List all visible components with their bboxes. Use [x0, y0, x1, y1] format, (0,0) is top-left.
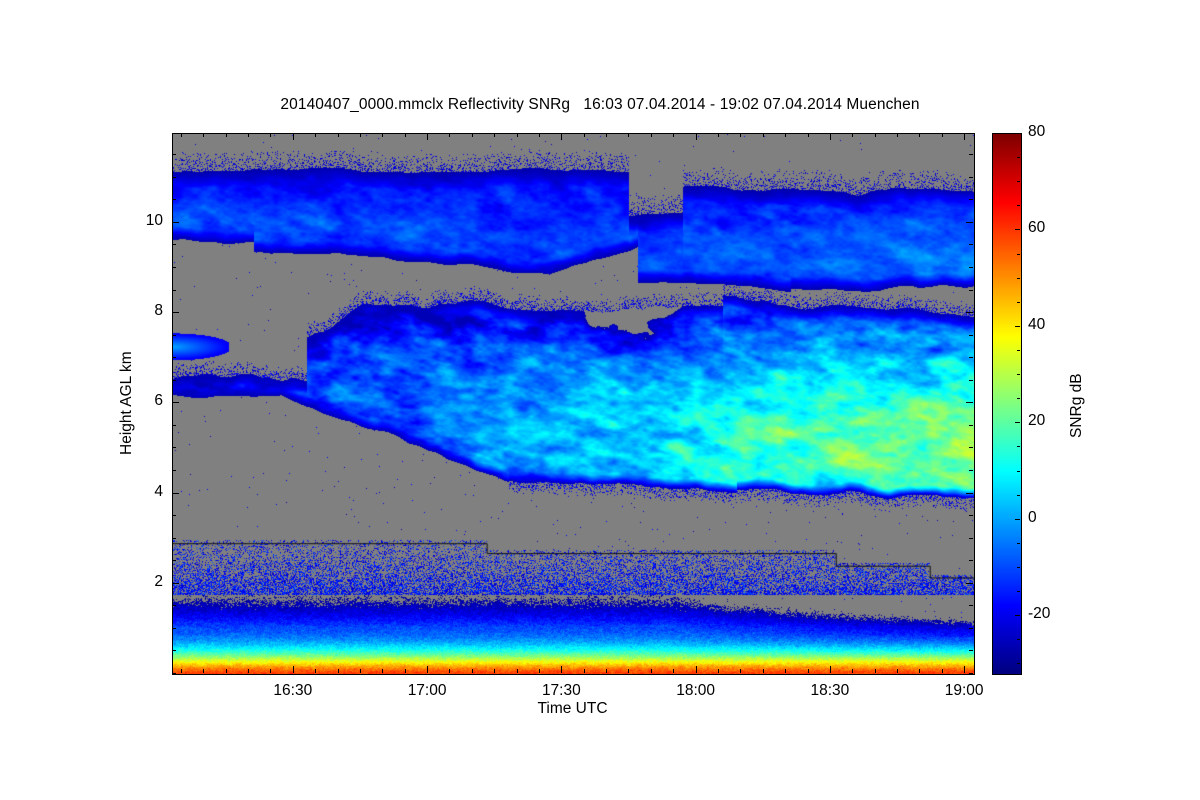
x-minor-tick-top: [382, 133, 383, 137]
y-minor-tick: [172, 538, 176, 539]
colorbar-minor-tick: [1017, 567, 1020, 568]
x-minor-tick: [785, 669, 786, 673]
x-minor-tick: [405, 669, 406, 673]
y-minor-tick: [172, 244, 176, 245]
x-minor-tick: [248, 669, 249, 673]
x-minor-tick: [270, 669, 271, 673]
x-major-tick: [964, 666, 965, 673]
colorbar-minor-tick: [1017, 543, 1020, 544]
y-minor-tick: [172, 357, 176, 358]
y-major-tick: [172, 493, 179, 494]
x-minor-tick: [651, 669, 652, 673]
y-minor-tick: [172, 380, 176, 381]
figure-title: 20140407_0000.mmclx Reflectivity SNRg 16…: [0, 96, 1200, 114]
x-tick-label: 17:00: [382, 682, 472, 700]
x-minor-tick: [382, 669, 383, 673]
y-minor-tick-right: [969, 515, 973, 516]
y-minor-tick-right: [969, 335, 973, 336]
x-minor-tick-top: [763, 133, 764, 137]
colorbar-tick: [1015, 133, 1020, 134]
y-major-tick: [172, 222, 179, 223]
x-minor-tick: [919, 669, 920, 673]
colorbar-tick-label: 20: [1028, 412, 1045, 430]
colorbar-minor-tick: [1017, 663, 1020, 664]
y-minor-tick: [172, 267, 176, 268]
colorbar-tick-label: -20: [1028, 605, 1050, 623]
x-minor-tick-top: [517, 133, 518, 137]
y-minor-tick-right: [969, 154, 973, 155]
y-tick-label: 8: [154, 302, 163, 320]
x-major-tick: [830, 666, 831, 673]
y-major-tick-right: [966, 312, 973, 313]
x-minor-tick: [584, 669, 585, 673]
x-tick-label: 18:00: [651, 682, 741, 700]
x-minor-tick-top: [718, 133, 719, 137]
y-tick-label: 6: [154, 392, 163, 410]
y-minor-tick: [172, 154, 176, 155]
y-minor-tick: [172, 650, 176, 651]
x-minor-tick-top: [919, 133, 920, 137]
reflectivity-heatmap-canvas: [173, 134, 974, 674]
x-minor-tick-top: [740, 133, 741, 137]
colorbar-minor-tick: [1017, 639, 1020, 640]
x-minor-tick-top: [360, 133, 361, 137]
x-tick-label: 16:30: [248, 682, 338, 700]
colorbar-tick: [1015, 422, 1020, 423]
colorbar-title: SNRg dB: [1068, 373, 1086, 438]
y-minor-tick-right: [969, 425, 973, 426]
x-minor-tick: [942, 669, 943, 673]
x-minor-tick: [472, 669, 473, 673]
x-tick-label: 19:00: [919, 682, 1009, 700]
reflectivity-heatmap-panel: [172, 133, 975, 675]
y-major-tick: [172, 312, 179, 313]
x-major-tick-top: [830, 133, 831, 140]
y-minor-tick: [172, 470, 176, 471]
x-minor-tick: [673, 669, 674, 673]
x-minor-tick-top: [897, 133, 898, 137]
colorbar-minor-tick: [1017, 591, 1020, 592]
x-minor-tick: [875, 669, 876, 673]
colorbar-minor-tick: [1017, 254, 1020, 255]
x-minor-tick-top: [808, 133, 809, 137]
x-minor-tick-top: [248, 133, 249, 137]
radar-quicklook-figure: 20140407_0000.mmclx Reflectivity SNRg 16…: [0, 0, 1200, 800]
y-major-tick-right: [966, 493, 973, 494]
x-minor-tick: [226, 669, 227, 673]
y-minor-tick-right: [969, 177, 973, 178]
y-minor-tick-right: [969, 628, 973, 629]
y-minor-tick-right: [969, 650, 973, 651]
y-minor-tick-right: [969, 538, 973, 539]
x-minor-tick-top: [673, 133, 674, 137]
y-major-tick-right: [966, 222, 973, 223]
x-major-tick: [293, 666, 294, 673]
x-minor-tick-top: [628, 133, 629, 137]
colorbar-minor-tick: [1017, 446, 1020, 447]
x-minor-tick: [628, 669, 629, 673]
x-minor-tick-top: [449, 133, 450, 137]
x-minor-tick: [852, 669, 853, 673]
y-minor-tick-right: [969, 605, 973, 606]
x-minor-tick-top: [651, 133, 652, 137]
colorbar-tick: [1015, 229, 1020, 230]
x-major-tick-top: [696, 133, 697, 140]
x-minor-tick: [315, 669, 316, 673]
x-minor-tick: [539, 669, 540, 673]
colorbar-tick-label: 40: [1028, 316, 1045, 334]
x-minor-tick-top: [338, 133, 339, 137]
y-minor-tick: [172, 335, 176, 336]
x-minor-tick: [360, 669, 361, 673]
y-major-tick-right: [966, 583, 973, 584]
x-major-tick-top: [293, 133, 294, 140]
x-minor-tick-top: [472, 133, 473, 137]
y-minor-tick: [172, 177, 176, 178]
x-major-tick-top: [561, 133, 562, 140]
y-tick-label: 10: [146, 212, 163, 230]
colorbar-tick-label: 0: [1028, 509, 1037, 527]
x-tick-label: 17:30: [516, 682, 606, 700]
x-minor-tick-top: [270, 133, 271, 137]
x-minor-tick: [808, 669, 809, 673]
x-major-tick: [427, 666, 428, 673]
x-minor-tick-top: [539, 133, 540, 137]
x-minor-tick: [181, 669, 182, 673]
y-minor-tick: [172, 628, 176, 629]
y-minor-tick-right: [969, 199, 973, 200]
x-minor-tick: [449, 669, 450, 673]
y-axis-title: Height AGL km: [118, 351, 136, 455]
y-minor-tick: [172, 447, 176, 448]
x-axis-title: Time UTC: [172, 700, 973, 718]
x-minor-tick-top: [226, 133, 227, 137]
y-minor-tick-right: [969, 560, 973, 561]
x-minor-tick: [494, 669, 495, 673]
y-minor-tick-right: [969, 290, 973, 291]
y-minor-tick-right: [969, 380, 973, 381]
x-minor-tick: [897, 669, 898, 673]
x-minor-tick: [338, 669, 339, 673]
y-minor-tick-right: [969, 267, 973, 268]
x-minor-tick-top: [584, 133, 585, 137]
x-minor-tick: [740, 669, 741, 673]
colorbar-minor-tick: [1017, 278, 1020, 279]
x-minor-tick: [606, 669, 607, 673]
y-minor-tick-right: [969, 447, 973, 448]
x-major-tick-top: [964, 133, 965, 140]
colorbar-minor-tick: [1017, 398, 1020, 399]
colorbar-minor-tick: [1017, 302, 1020, 303]
x-minor-tick-top: [785, 133, 786, 137]
x-major-tick-top: [427, 133, 428, 140]
y-minor-tick: [172, 560, 176, 561]
x-minor-tick-top: [315, 133, 316, 137]
colorbar-minor-tick: [1017, 205, 1020, 206]
x-major-tick: [696, 666, 697, 673]
y-major-tick-right: [966, 402, 973, 403]
y-minor-tick-right: [969, 673, 973, 674]
x-minor-tick: [203, 669, 204, 673]
colorbar-minor-tick: [1017, 157, 1020, 158]
colorbar-tick: [1015, 615, 1020, 616]
y-minor-tick-right: [969, 357, 973, 358]
x-minor-tick: [763, 669, 764, 673]
colorbar-minor-tick: [1017, 181, 1020, 182]
x-minor-tick-top: [494, 133, 495, 137]
y-tick-label: 4: [154, 483, 163, 501]
colorbar-tick-label: 80: [1028, 123, 1045, 141]
y-major-tick: [172, 402, 179, 403]
x-minor-tick-top: [875, 133, 876, 137]
x-minor-tick-top: [181, 133, 182, 137]
y-minor-tick-right: [969, 244, 973, 245]
x-minor-tick: [517, 669, 518, 673]
y-minor-tick: [172, 425, 176, 426]
y-minor-tick: [172, 290, 176, 291]
x-minor-tick-top: [405, 133, 406, 137]
x-minor-tick-top: [852, 133, 853, 137]
colorbar-tick-label: 60: [1028, 219, 1045, 237]
y-tick-label: 2: [154, 573, 163, 591]
colorbar-minor-tick: [1017, 471, 1020, 472]
colorbar-canvas: [993, 134, 1021, 674]
colorbar: [992, 133, 1022, 675]
y-minor-tick: [172, 673, 176, 674]
x-minor-tick-top: [942, 133, 943, 137]
x-major-tick: [561, 666, 562, 673]
x-minor-tick-top: [203, 133, 204, 137]
y-minor-tick: [172, 515, 176, 516]
colorbar-minor-tick: [1017, 495, 1020, 496]
x-tick-label: 18:30: [785, 682, 875, 700]
x-minor-tick-top: [606, 133, 607, 137]
x-minor-tick: [718, 669, 719, 673]
colorbar-tick: [1015, 326, 1020, 327]
y-major-tick: [172, 583, 179, 584]
colorbar-minor-tick: [1017, 374, 1020, 375]
colorbar-minor-tick: [1017, 350, 1020, 351]
y-minor-tick: [172, 605, 176, 606]
y-minor-tick: [172, 199, 176, 200]
y-minor-tick-right: [969, 470, 973, 471]
colorbar-tick: [1015, 519, 1020, 520]
